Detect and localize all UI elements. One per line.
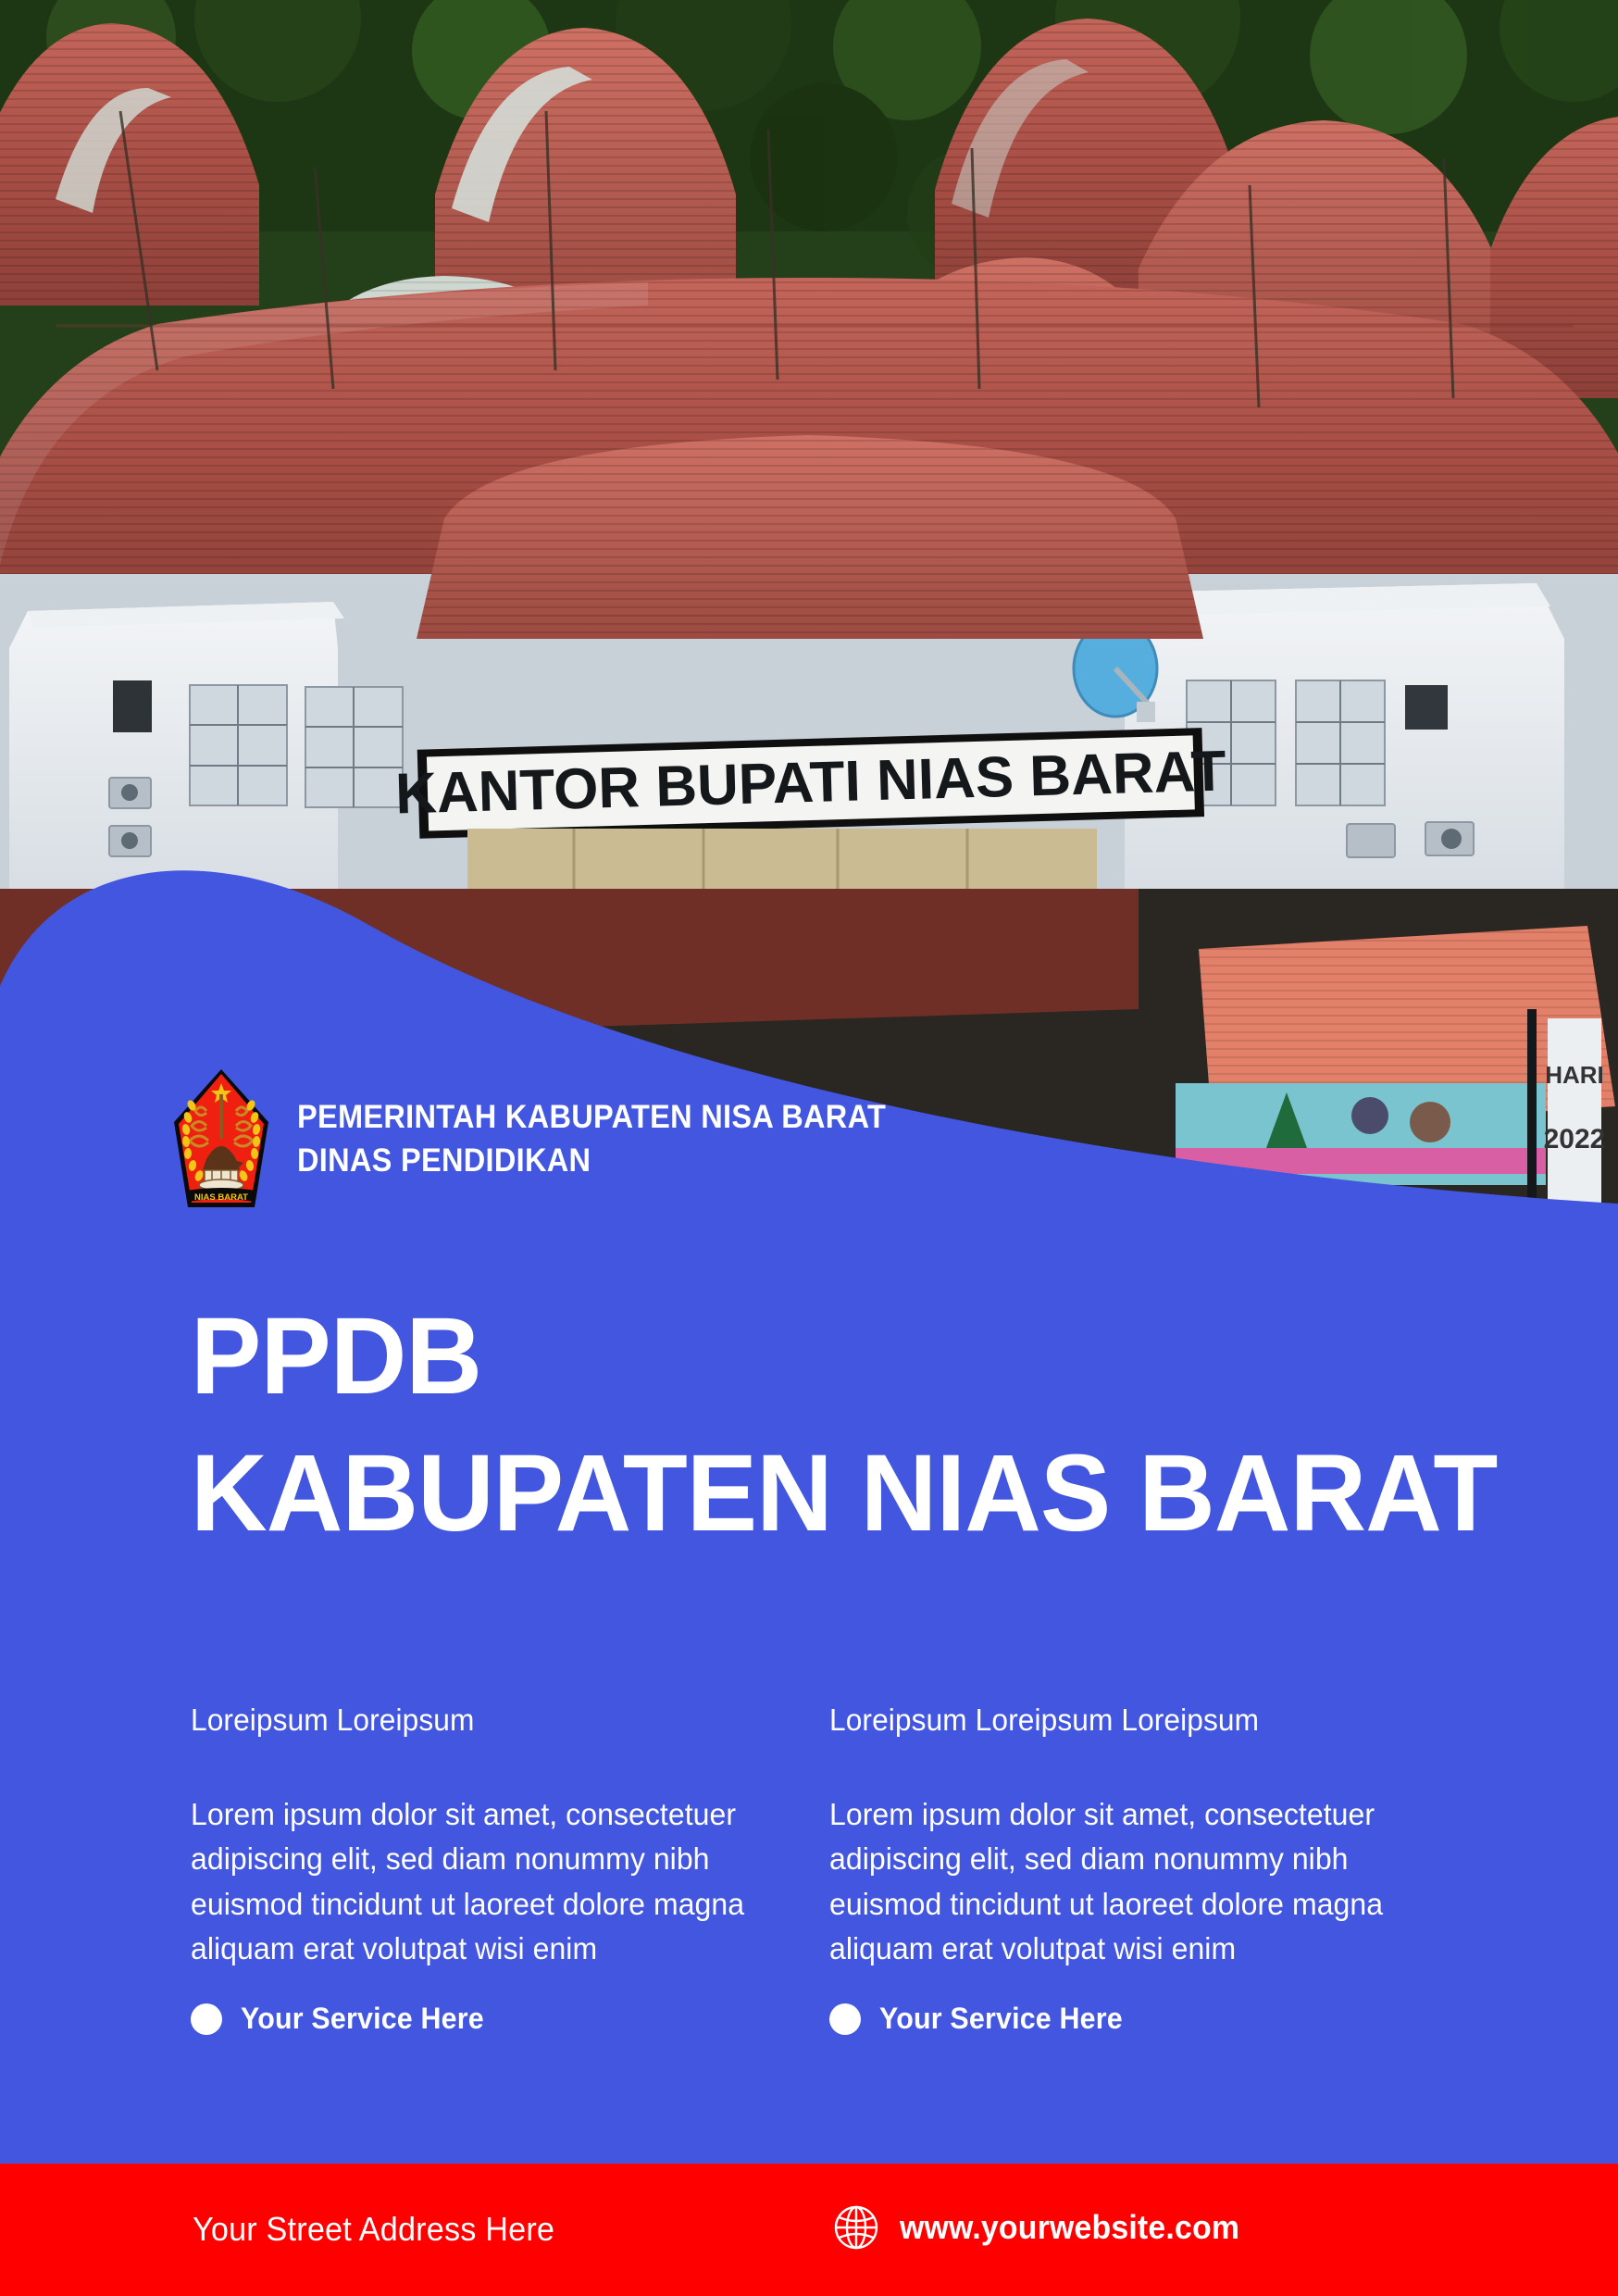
service-left-label: Your Service Here xyxy=(241,2002,484,2036)
column-left-body: Lorem ipsum dolor sit amet, consectetuer… xyxy=(191,1792,765,1972)
organization-name-lines: PEMERINTAH KABUPATEN NISA BARAT DINAS PE… xyxy=(297,1098,930,1180)
footer-website-group[interactable]: www.yourwebsite.com xyxy=(833,2204,1262,2251)
poster-content: NIAS BARAT PEMERINTAH KABUPATEN NISA BAR… xyxy=(0,0,1618,2296)
service-item-left[interactable]: Your Service Here xyxy=(191,2002,829,2036)
svg-text:NIAS BARAT: NIAS BARAT xyxy=(194,1192,248,1203)
column-left: Loreipsum Loreipsum Lorem ipsum dolor si… xyxy=(191,1702,829,1972)
organization-header: NIAS BARAT PEMERINTAH KABUPATEN NISA BAR… xyxy=(169,1067,930,1213)
page-title: PPDB KABUPATEN NIAS BARAT xyxy=(191,1302,1505,1548)
service-item-right[interactable]: Your Service Here xyxy=(829,2002,1468,2036)
bullet-dot-icon xyxy=(191,2003,222,2035)
footer-website-url[interactable]: www.yourwebsite.com xyxy=(900,2208,1239,2247)
service-right-label: Your Service Here xyxy=(879,2002,1123,2036)
nias-barat-crest-icon: NIAS BARAT xyxy=(169,1067,273,1213)
service-list: Your Service Here Your Service Here xyxy=(191,2002,1477,2036)
headline-region: KABUPATEN NIAS BARAT xyxy=(191,1439,1465,1548)
footer-street-address: Your Street Address Here xyxy=(193,2210,554,2249)
poster-root: KANTOR BUPATI NIAS BARAT xyxy=(0,0,1618,2296)
body-columns: Loreipsum Loreipsum Lorem ipsum dolor si… xyxy=(191,1702,1477,1972)
globe-icon xyxy=(833,2204,879,2251)
org-line-government: PEMERINTAH KABUPATEN NISA BARAT xyxy=(297,1098,886,1138)
column-left-subtitle: Loreipsum Loreipsum xyxy=(191,1702,803,1739)
headline-ppdb: PPDB xyxy=(191,1302,1465,1411)
column-right-subtitle: Loreipsum Loreipsum Loreipsum xyxy=(829,1702,1442,1739)
bullet-dot-icon xyxy=(829,2003,861,2035)
footer-bar: Your Street Address Here www.yourwebsite… xyxy=(0,2164,1618,2296)
org-line-department: DINAS PENDIDIKAN xyxy=(297,1142,886,1181)
column-right: Loreipsum Loreipsum Loreipsum Lorem ipsu… xyxy=(829,1702,1468,1972)
column-right-body: Lorem ipsum dolor sit amet, consectetuer… xyxy=(829,1792,1404,1972)
